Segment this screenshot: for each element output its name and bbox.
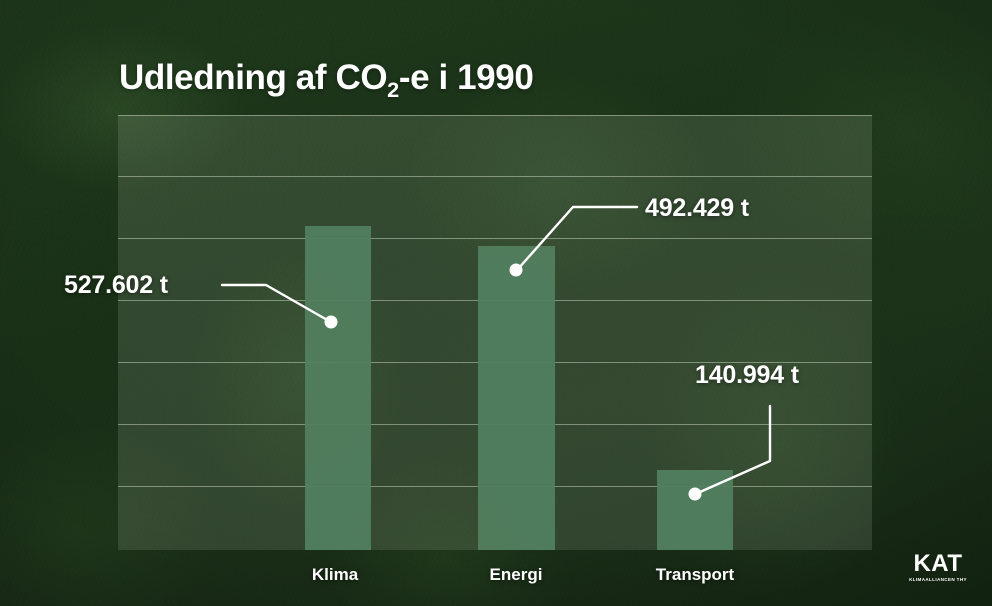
chart-title-subscript: 2 [387,77,399,102]
category-label-energi: Energi [490,565,543,585]
chart-title-before: Udledning af CO [119,58,387,97]
gridline [118,176,872,177]
logo-subtitle: KLIMAALLIANCEN THY [903,578,973,583]
callout-value-klima: 527.602 t [64,271,168,300]
bar-klima [305,226,371,550]
category-label-klima: Klima [312,565,358,585]
brand-logo: KAT KLIMAALLIANCEN THY [903,552,973,583]
bar-energi [478,246,555,550]
callout-value-energi: 492.429 t [645,194,749,223]
gridline [118,238,872,239]
gridline [118,115,872,116]
chart-title: Udledning af CO2-e i 1990 [119,58,533,103]
category-label-transport: Transport [656,565,734,585]
infographic-slide: Udledning af CO2-e i 1990 527.602 t 492.… [0,0,992,606]
bar-transport [657,470,733,550]
logo-wordmark: KAT [903,552,973,576]
callout-value-transport: 140.994 t [695,361,799,390]
chart-plot-area [118,115,872,550]
chart-title-after: -e i 1990 [399,58,534,97]
